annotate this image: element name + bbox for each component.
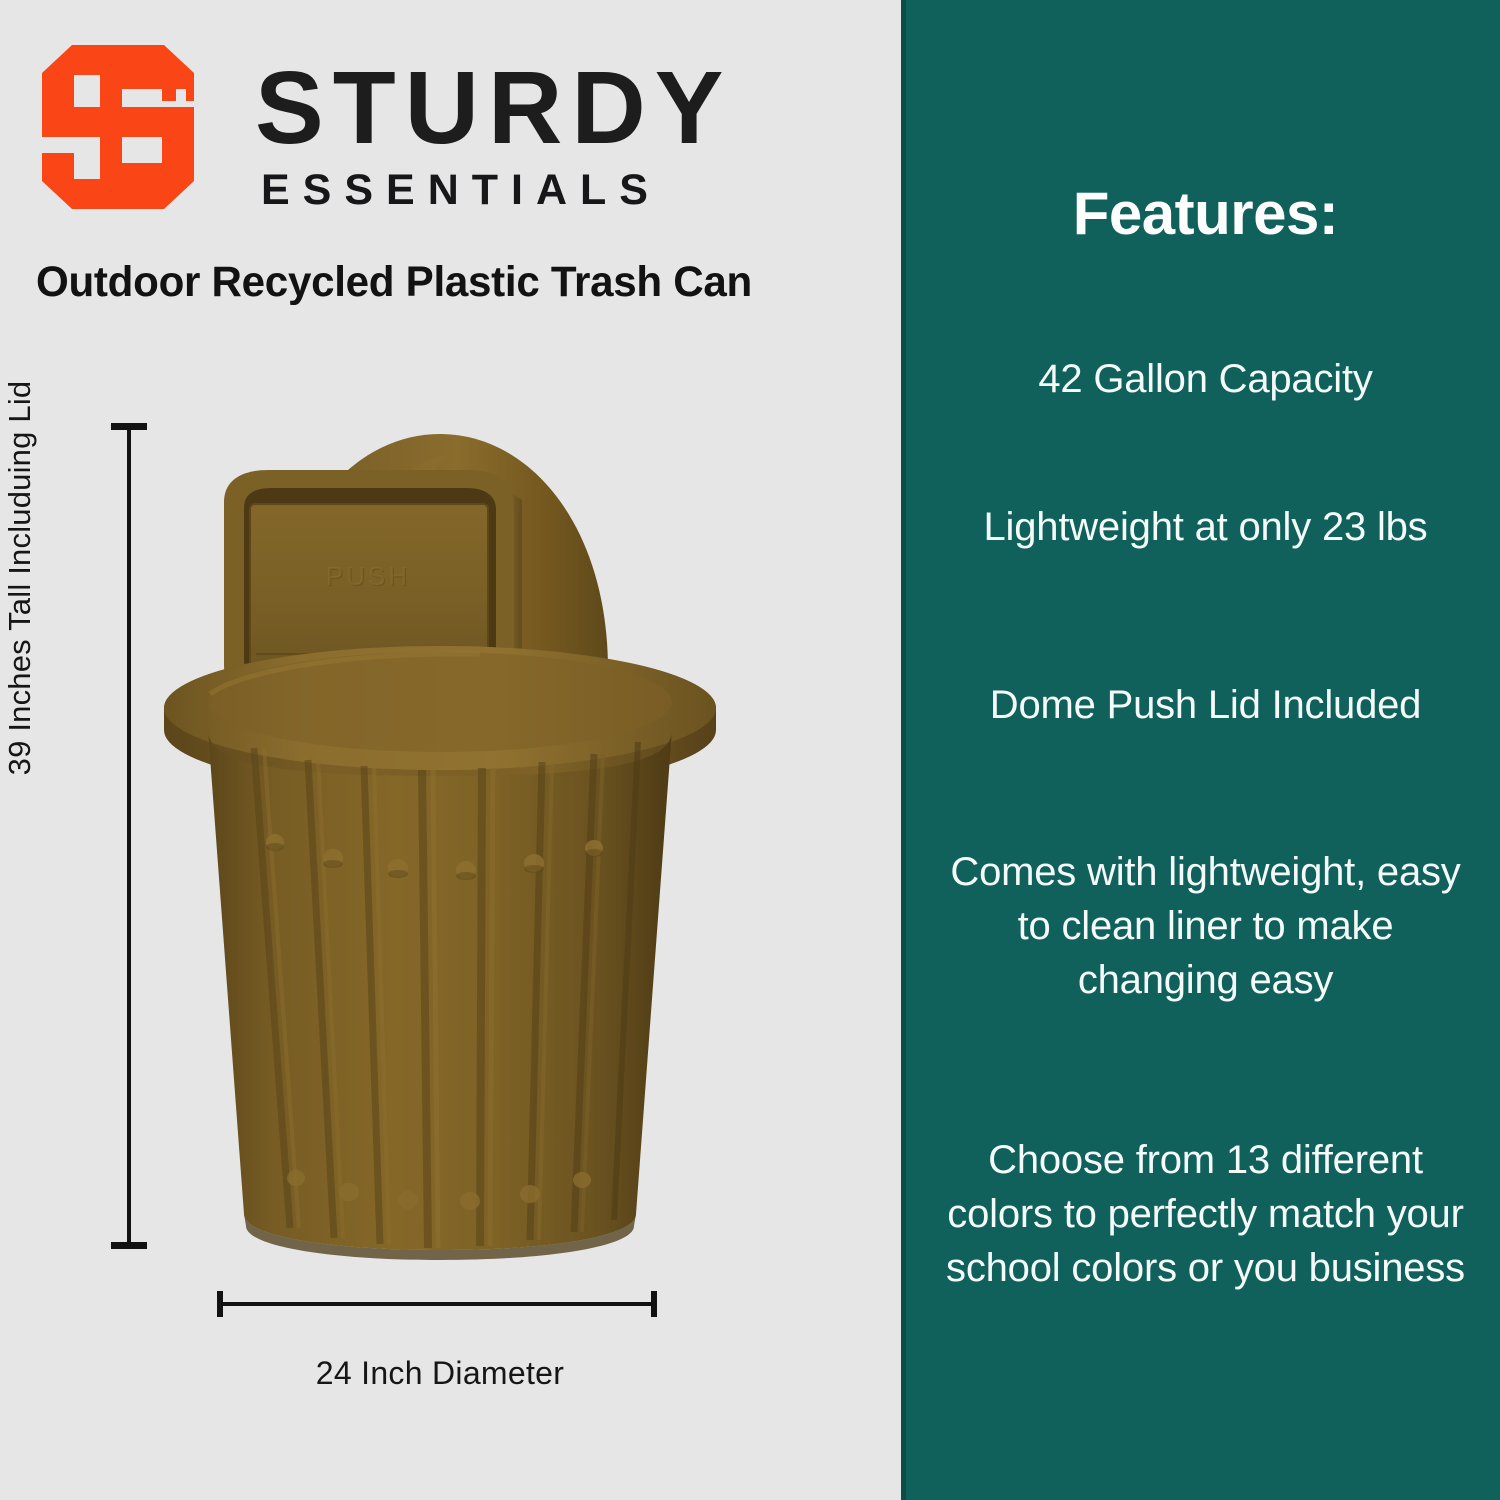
brand-header: STURDY ESSENTIALS <box>30 38 880 223</box>
dimension-shaft <box>217 1302 657 1306</box>
feature-item: Choose from 13 different colors to perfe… <box>936 1133 1475 1295</box>
dimension-cap-right <box>651 1291 657 1317</box>
svg-text:PUSH: PUSH <box>326 561 410 591</box>
trash-can-illustration: PUSH PUSH <box>150 408 730 1268</box>
brand-wordmark: STURDY ESSENTIALS <box>255 56 895 214</box>
page-title: Outdoor Recycled Plastic Trash Can <box>36 256 879 308</box>
height-dimension-label: 39 Inches Tall Includuing Lid <box>2 258 38 898</box>
height-dimension-line <box>124 423 133 1249</box>
brand-tagline: ESSENTIALS <box>261 166 895 214</box>
feature-item: Comes with lightweight, easy to clean li… <box>936 845 1475 1007</box>
width-dimension-line <box>217 1299 657 1308</box>
feature-item: 42 Gallon Capacity <box>936 352 1475 406</box>
features-heading: Features: <box>906 182 1500 246</box>
feature-item: Lightweight at only 23 lbs <box>936 500 1475 554</box>
feature-item: Dome Push Lid Included <box>936 678 1475 732</box>
sturdy-essentials-monogram-icon <box>38 41 198 213</box>
features-panel: Features: 42 Gallon Capacity Lightweight… <box>901 0 1500 1500</box>
brand-name: STURDY <box>255 56 895 160</box>
width-dimension-label: 24 Inch Diameter <box>150 1355 730 1392</box>
product-infographic: STURDY ESSENTIALS Outdoor Recycled Plast… <box>0 0 1500 1500</box>
left-content-panel: STURDY ESSENTIALS Outdoor Recycled Plast… <box>0 0 901 1500</box>
dimension-shaft <box>127 423 131 1249</box>
dimension-cap-bottom <box>111 1242 147 1249</box>
